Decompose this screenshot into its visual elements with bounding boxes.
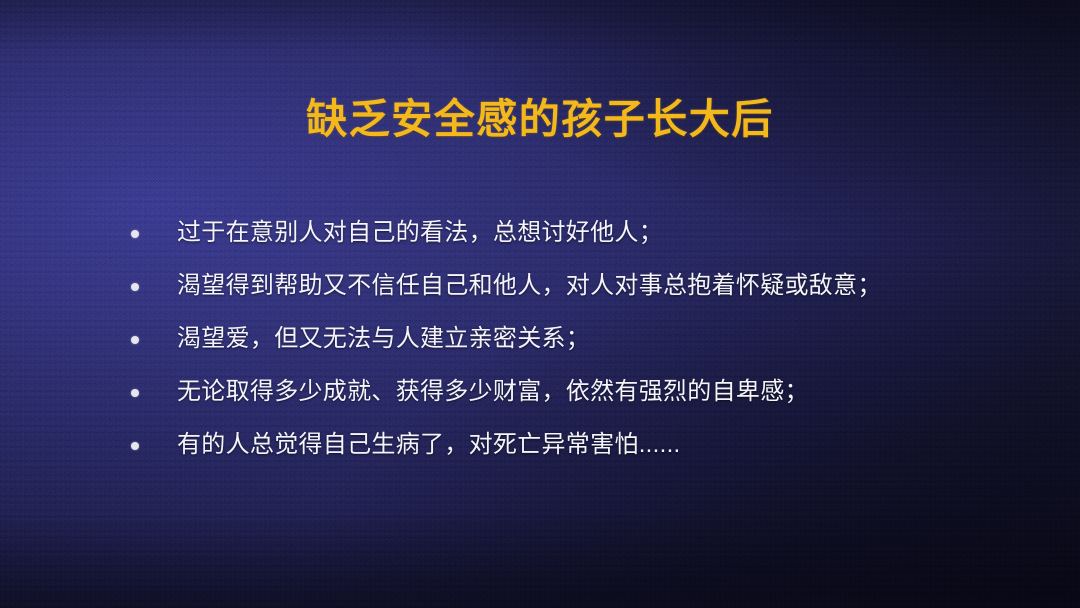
bullet-dot-icon	[131, 336, 139, 344]
bullet-dot-icon	[131, 389, 139, 397]
list-item-text: 无论取得多少成就、获得多少财富，依然有强烈的自卑感；	[177, 375, 1040, 409]
bullet-dot-icon	[131, 283, 139, 291]
bullet-list: 过于在意别人对自己的看法，总想讨好他人； 渴望得到帮助又不信任自己和他人，对人对…	[131, 216, 1040, 481]
list-item-text: 渴望爱，但又无法与人建立亲密关系；	[177, 322, 1040, 356]
list-item: 无论取得多少成就、获得多少财富，依然有强烈的自卑感；	[131, 375, 1040, 428]
list-item: 有的人总觉得自己生病了，对死亡异常害怕......	[131, 428, 1040, 481]
list-item-text: 渴望得到帮助又不信任自己和他人，对人对事总抱着怀疑或敌意；	[177, 269, 1040, 303]
list-item-text: 过于在意别人对自己的看法，总想讨好他人；	[177, 216, 1040, 250]
list-item: 过于在意别人对自己的看法，总想讨好他人；	[131, 216, 1040, 269]
list-item: 渴望爱，但又无法与人建立亲密关系；	[131, 322, 1040, 375]
bullet-dot-icon	[131, 230, 139, 238]
list-item: 渴望得到帮助又不信任自己和他人，对人对事总抱着怀疑或敌意；	[131, 269, 1040, 322]
bullet-dot-icon	[131, 442, 139, 450]
slide-title: 缺乏安全感的孩子长大后	[0, 92, 1080, 146]
list-item-text: 有的人总觉得自己生病了，对死亡异常害怕......	[177, 428, 1040, 462]
slide-content: 缺乏安全感的孩子长大后 过于在意别人对自己的看法，总想讨好他人； 渴望得到帮助又…	[0, 0, 1080, 608]
presentation-slide: 缺乏安全感的孩子长大后 过于在意别人对自己的看法，总想讨好他人； 渴望得到帮助又…	[0, 0, 1080, 608]
